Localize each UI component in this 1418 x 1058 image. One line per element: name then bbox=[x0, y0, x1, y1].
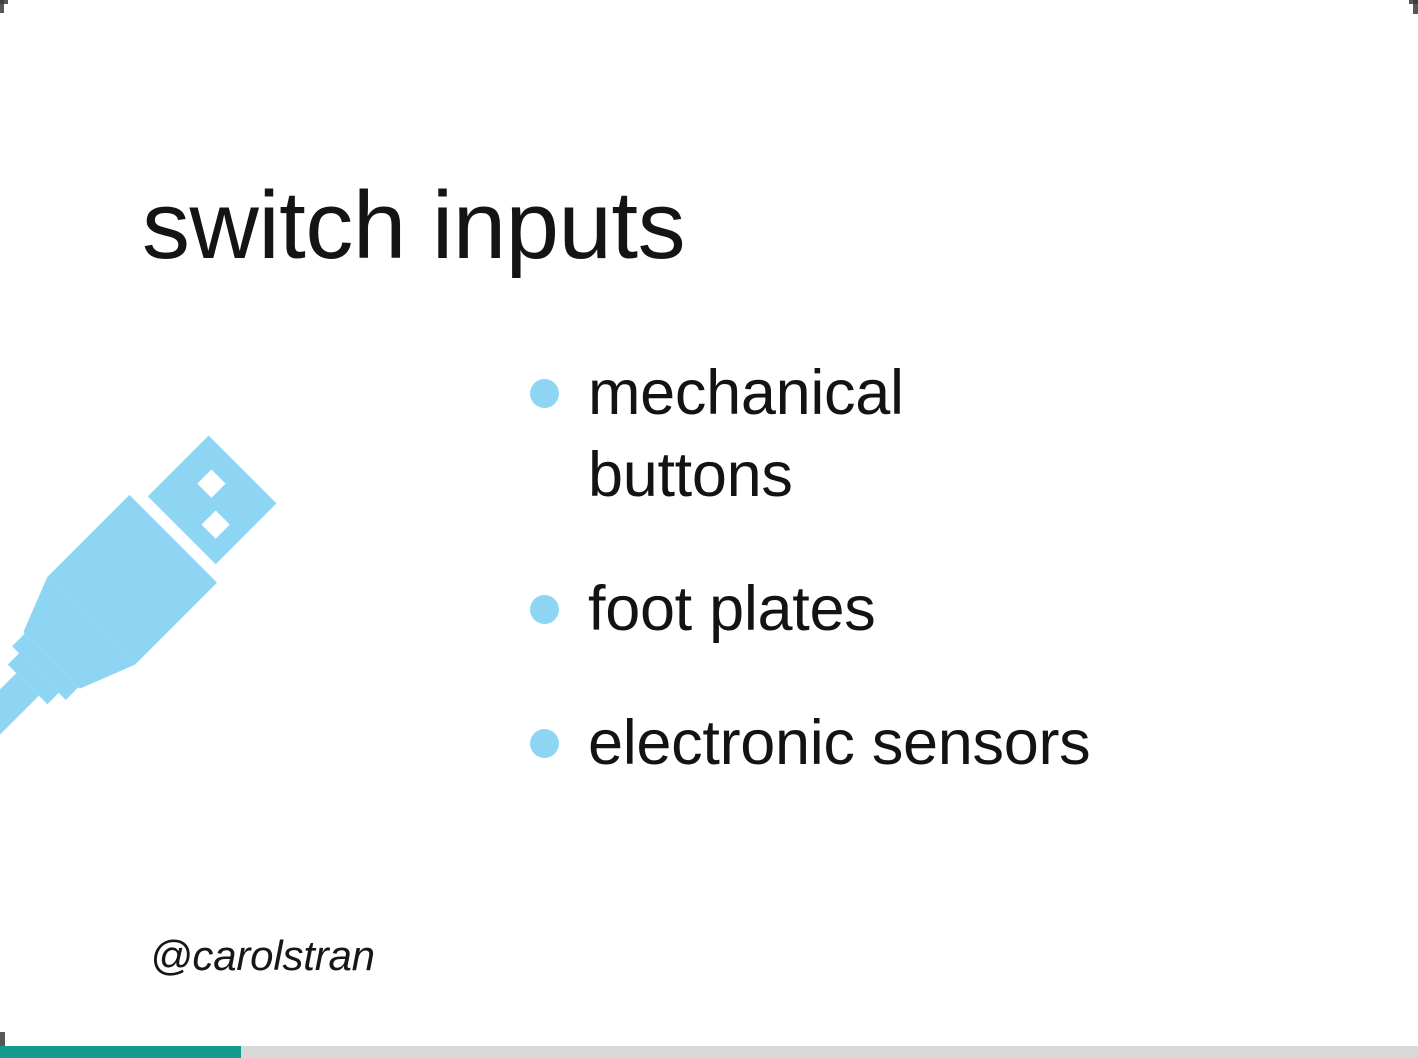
author-handle: @carolstran bbox=[150, 932, 375, 980]
slide-progress-fill bbox=[0, 1046, 241, 1058]
slide-frame-edge-top-right bbox=[1409, 0, 1418, 4]
slide-progress-bar[interactable] bbox=[0, 1046, 1418, 1058]
list-item: electronic sensors bbox=[524, 702, 1224, 784]
bullet-dot-icon bbox=[530, 379, 559, 408]
bullet-label: electronic sensors bbox=[588, 702, 1224, 784]
slide-frame-edge-top-left bbox=[0, 0, 8, 4]
bullet-label: foot plates bbox=[588, 568, 1008, 650]
slide-frame-corner-bottom-left bbox=[0, 1032, 5, 1046]
bullet-label: mechanical buttons bbox=[588, 352, 1008, 516]
list-item: mechanical buttons bbox=[524, 352, 1224, 516]
usb-plug-icon bbox=[0, 404, 278, 764]
bullet-dot-icon bbox=[530, 729, 559, 758]
slide-title: switch inputs bbox=[142, 178, 685, 274]
list-item: foot plates bbox=[524, 568, 1224, 650]
bullet-dot-icon bbox=[530, 595, 559, 624]
bullet-list: mechanical buttons foot plates electroni… bbox=[524, 352, 1224, 784]
usb-plug-illustration bbox=[0, 404, 278, 764]
presentation-slide: switch inputs mechanical buttons bbox=[0, 0, 1418, 1058]
